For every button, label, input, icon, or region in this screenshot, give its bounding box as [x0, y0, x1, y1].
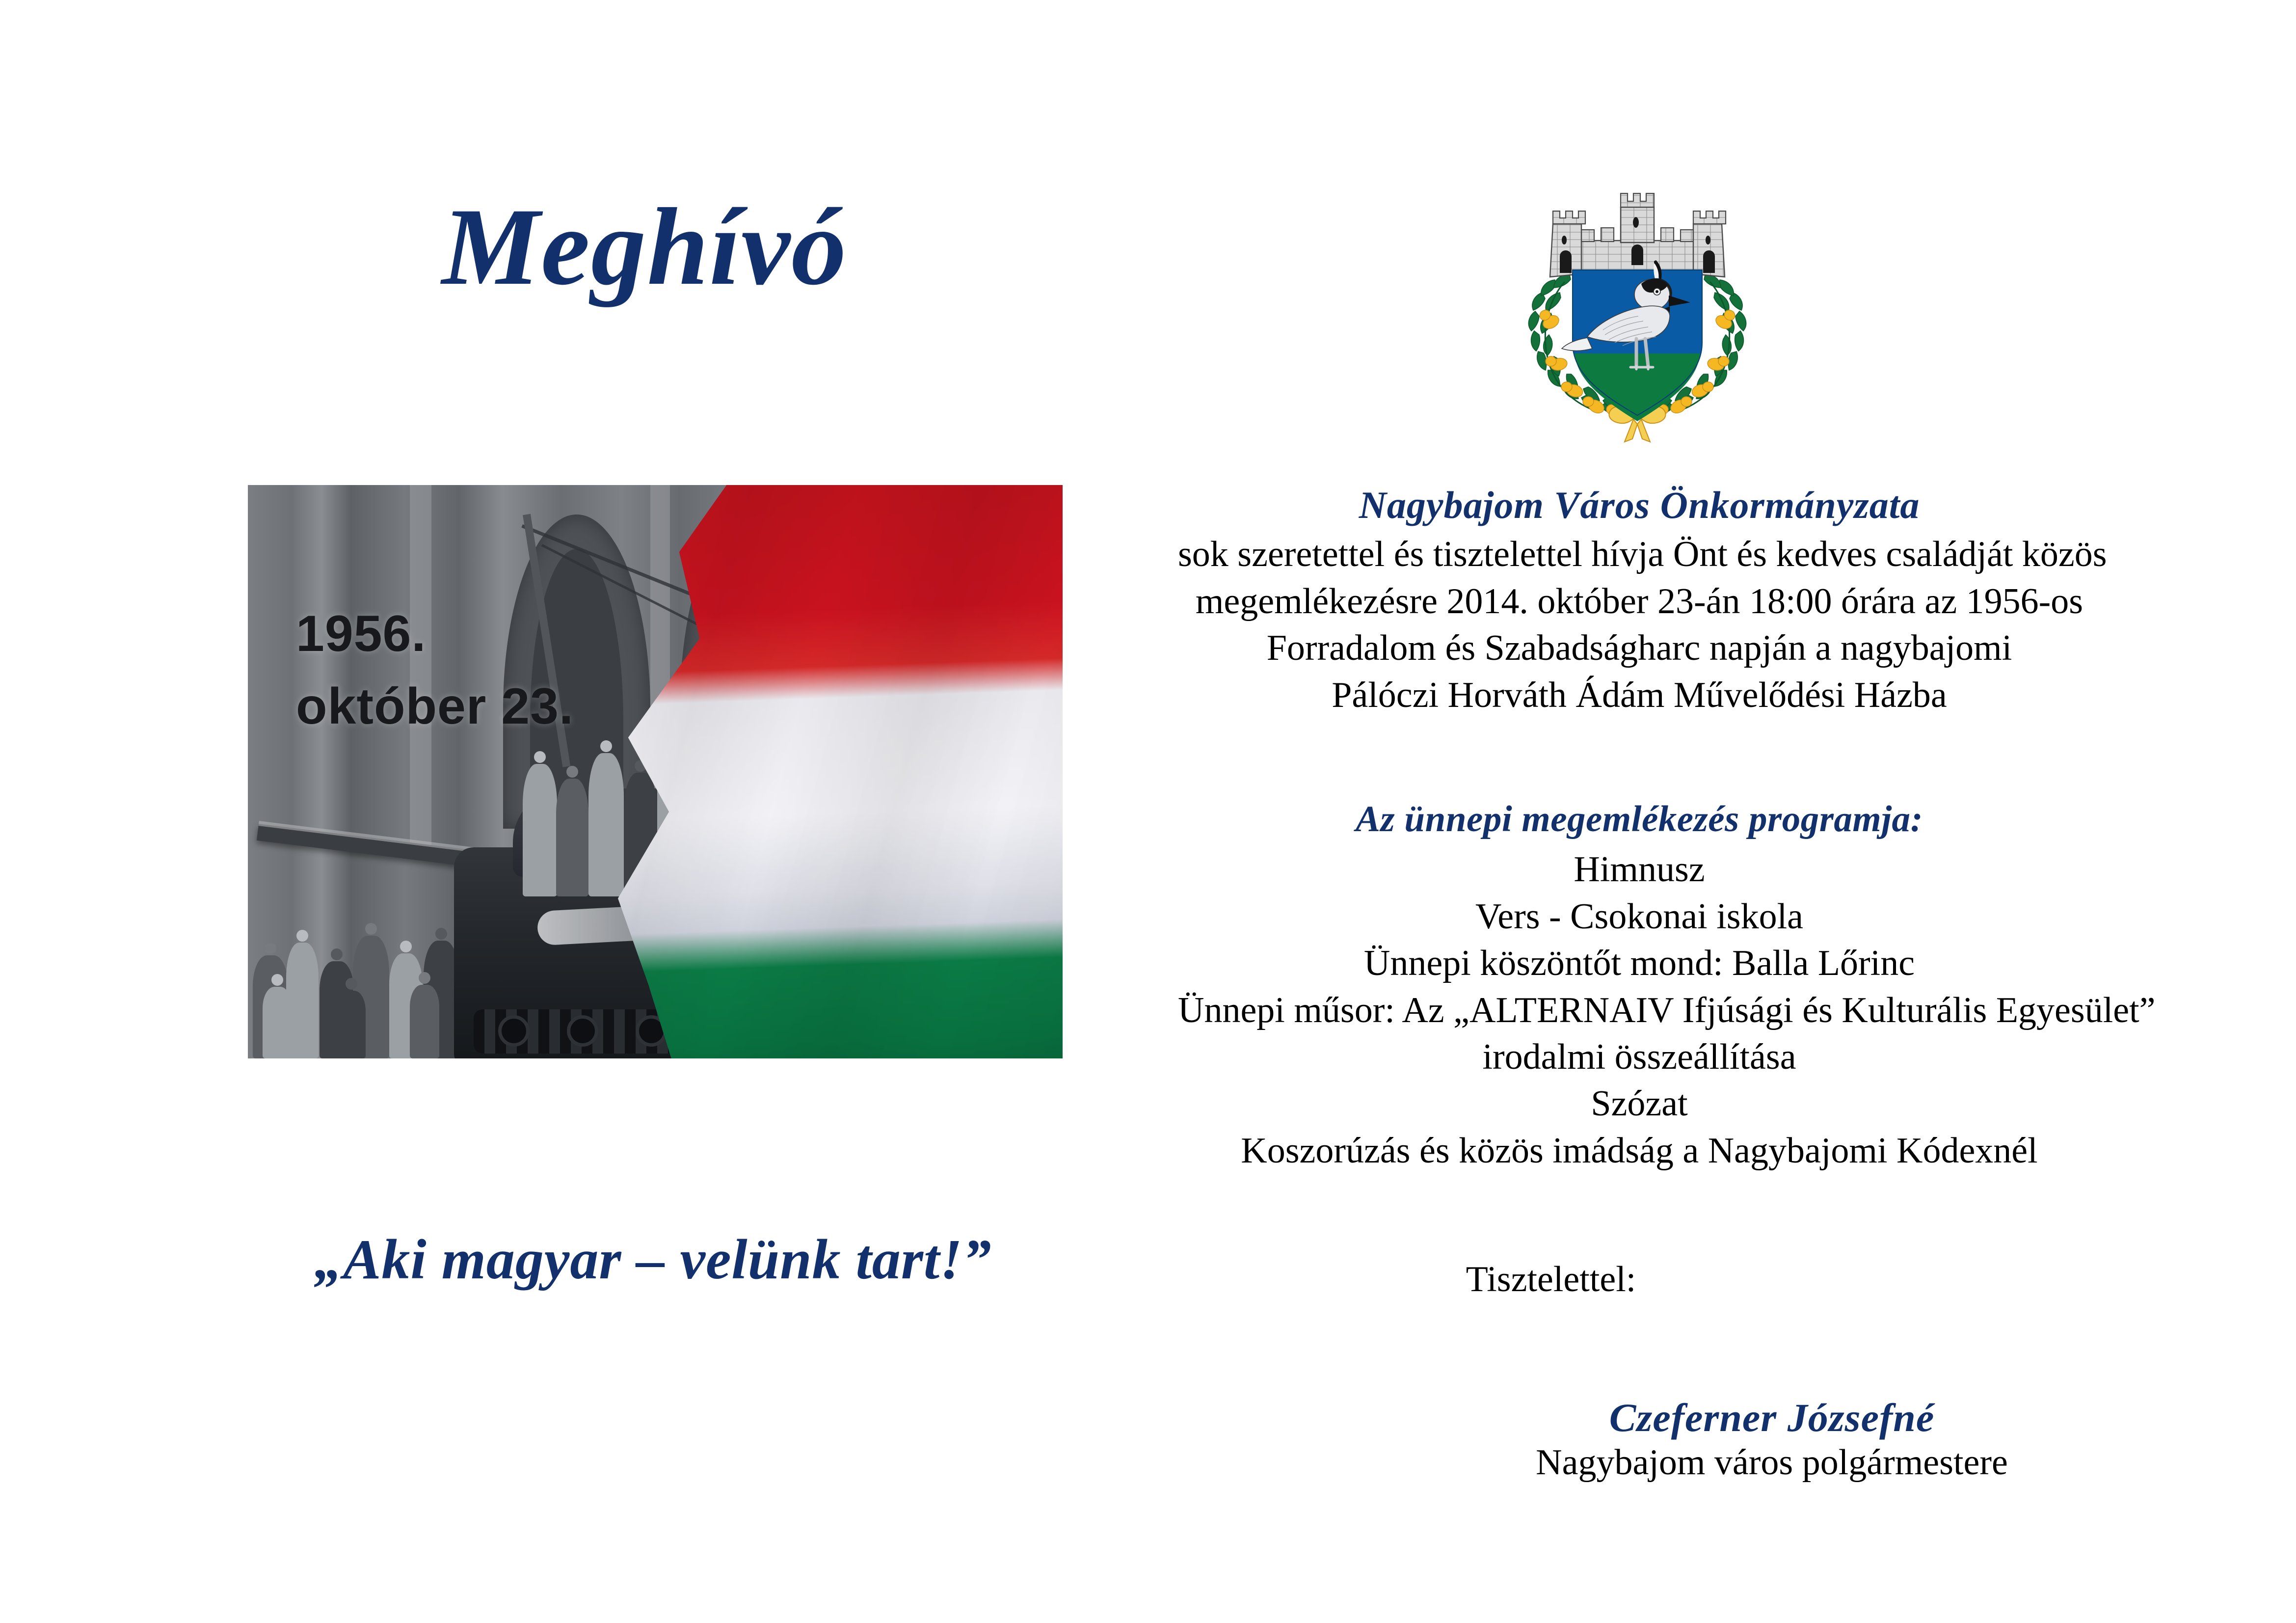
program-item: Himnusz — [1178, 846, 2101, 893]
signer-name: Czeferner Józsefné — [1443, 1395, 2101, 1441]
invitation-line: sok szeretettel és tisztelettel hívja Ön… — [1178, 531, 2101, 578]
commemoration-photo: 1956. október 23. — [248, 485, 1063, 1058]
invitation-line: Forradalom és Szabadságharc napján a nag… — [1178, 625, 2101, 672]
signer-role: Nagybajom város polgármestere — [1443, 1441, 2101, 1485]
organization-name: Nagybajom Város Önkormányzata — [1178, 484, 2101, 526]
page-title: Meghívó — [442, 191, 982, 302]
program-item: Ünnepi műsor: Az „ALTERNAIV Ifjúsági és … — [1178, 987, 2101, 1034]
coat-of-arms — [1500, 166, 1775, 451]
signature-block: Czeferner Józsefné Nagybajom város polgá… — [1178, 1395, 2101, 1485]
invitation-text-column: Nagybajom Város Önkormányzata sok szeret… — [1178, 484, 2101, 1485]
mural-crown-icon — [1550, 193, 1726, 277]
photo-caption-overlay: 1956. október 23. — [296, 598, 574, 743]
motto-text: „Aki magyar – velünk tart!” — [314, 1227, 1099, 1293]
invitation-line: Pálóczi Horváth Ádám Művelődési Házba — [1178, 672, 2101, 719]
program-item: Ünnepi köszöntőt mond: Balla Lőrinc — [1178, 940, 2101, 987]
regards-text: Tisztelettel: — [1178, 1258, 2101, 1301]
program-heading: Az ünnepi megemlékezés programja: — [1178, 797, 2101, 841]
invitation-line: megemlékezésre 2014. október 23-án 18:00… — [1178, 578, 2101, 625]
program-item: Koszorúzás és közös imádság a Nagybajomi… — [1178, 1128, 2101, 1174]
program-item: irodalmi összeállítása — [1178, 1034, 2101, 1081]
program-item: Vers - Csokonai iskola — [1178, 893, 2101, 940]
program-item: Szózat — [1178, 1081, 2101, 1127]
invitation-page: Meghívó — [0, 0, 2296, 1623]
